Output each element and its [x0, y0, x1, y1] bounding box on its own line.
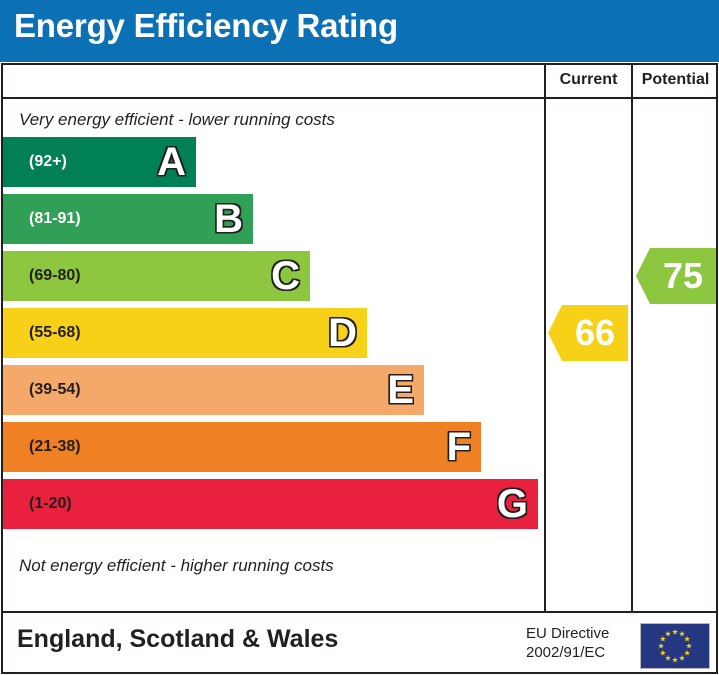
rating-table: Current Potential Very energy efficient … — [1, 63, 718, 613]
rating-marker-potential: 75 — [636, 248, 716, 304]
band-letter-b: B — [214, 199, 243, 239]
band-letter-c: C — [271, 256, 300, 296]
band-letter-g: G — [497, 484, 528, 524]
energy-efficiency-rating-certificate: Energy Efficiency Rating Current Potenti… — [0, 0, 719, 675]
certificate-footer: England, Scotland & Wales EU Directive 2… — [1, 613, 718, 674]
band-row-b: (81-91)B — [3, 194, 253, 244]
band-letter-a: A — [157, 142, 186, 182]
band-letter-e: E — [387, 370, 414, 410]
eu-flag-icon — [640, 623, 710, 669]
caption-very-efficient: Very energy efficient - lower running co… — [19, 110, 335, 130]
column-header-potential: Potential — [633, 71, 718, 89]
rating-marker-current: 66 — [548, 305, 628, 361]
footer-directive: EU Directive 2002/91/EC — [526, 625, 609, 663]
band-row-a: (92+)A — [3, 137, 196, 187]
band-range-b: (81-91) — [29, 210, 81, 228]
band-chart: Very energy efficient - lower running co… — [3, 99, 544, 611]
band-range-a: (92+) — [29, 153, 67, 171]
band-letter-f: F — [447, 427, 471, 467]
band-list: (92+)A(81-91)B(69-80)C(55-68)D(39-54)E(2… — [3, 137, 544, 536]
band-row-c: (69-80)C — [3, 251, 310, 301]
band-range-d: (55-68) — [29, 324, 81, 342]
table-header-row: Current Potential — [3, 65, 716, 99]
band-range-g: (1-20) — [29, 495, 72, 513]
band-range-e: (39-54) — [29, 381, 81, 399]
caption-not-efficient: Not energy efficient - higher running co… — [19, 556, 334, 576]
band-row-e: (39-54)E — [3, 365, 424, 415]
band-row-g: (1-20)G — [3, 479, 538, 529]
page-title: Energy Efficiency Rating — [14, 7, 398, 45]
band-row-f: (21-38)F — [3, 422, 481, 472]
directive-line-2: 2002/91/EC — [526, 644, 609, 663]
chart-header-bar: Energy Efficiency Rating — [0, 0, 719, 62]
column-header-current: Current — [546, 71, 631, 89]
band-range-c: (69-80) — [29, 267, 81, 285]
band-range-f: (21-38) — [29, 438, 81, 456]
directive-line-1: EU Directive — [526, 625, 609, 644]
column-divider-potential — [631, 65, 633, 611]
band-letter-d: D — [328, 313, 357, 353]
footer-region-label: England, Scotland & Wales — [17, 625, 338, 654]
eu-flag-stars-icon — [641, 624, 709, 668]
band-row-d: (55-68)D — [3, 308, 367, 358]
column-divider-current — [544, 65, 546, 611]
